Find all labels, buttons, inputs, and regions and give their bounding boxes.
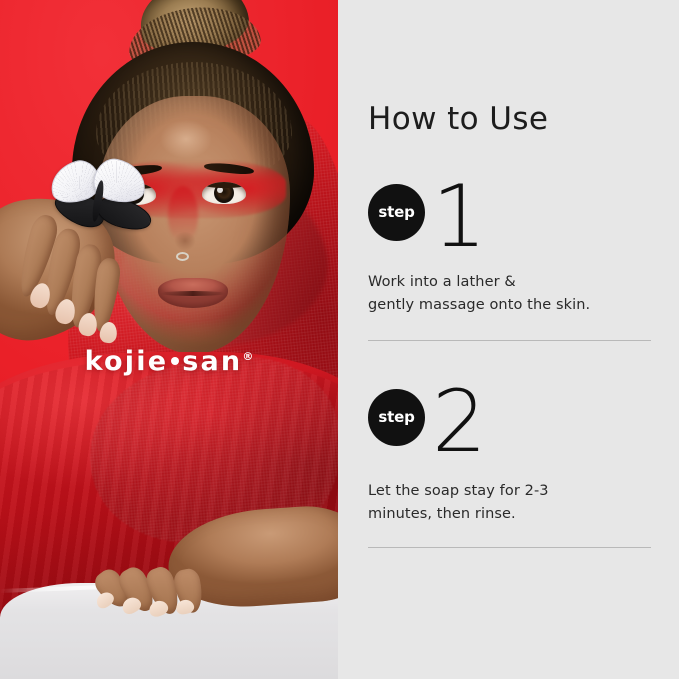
step-item-1: step 1 Work into a lather & gently massa…	[368, 182, 652, 260]
brand-separator-dot	[171, 357, 179, 365]
step-1-badge-label: step	[378, 205, 414, 220]
how-to-use-poster: kojiesan® How to Use step 1 Work into a …	[0, 0, 679, 679]
model-nose	[172, 232, 198, 254]
step-1-badge: step	[368, 184, 425, 241]
step-divider-1	[368, 340, 651, 341]
step-2-description: Let the soap stay for 2-3 minutes, then …	[368, 480, 549, 527]
brand-trademark-symbol: ®	[242, 350, 253, 363]
step-1-description: Work into a lather & gently massage onto…	[368, 271, 590, 318]
model-lip-line	[160, 291, 226, 296]
step-2-badge-label: step	[378, 410, 414, 425]
product-model-photo: kojiesan®	[0, 0, 338, 679]
model-forehead-highlight	[150, 112, 222, 166]
butterfly-icon	[44, 158, 152, 246]
brand-name-left: kojie	[85, 346, 169, 377]
page-title: How to Use	[368, 104, 548, 135]
step-2-badge: step	[368, 389, 425, 446]
brand-name-right: san	[182, 346, 242, 377]
instructions-panel: How to Use step 1 Work into a lather & g…	[338, 0, 679, 679]
model-eye-right	[202, 182, 246, 204]
step-1-header: step 1	[368, 182, 652, 260]
step-item-2: step 2 Let the soap stay for 2-3 minutes…	[368, 387, 652, 465]
step-1-number: 1	[432, 174, 487, 260]
brand-logo: kojiesan®	[0, 348, 338, 375]
step-2-header: step 2	[368, 387, 652, 465]
step-2-number: 2	[432, 379, 487, 465]
model-nose-ring	[176, 252, 189, 261]
model-eyelid-right	[202, 182, 246, 188]
step-divider-2	[368, 547, 651, 548]
